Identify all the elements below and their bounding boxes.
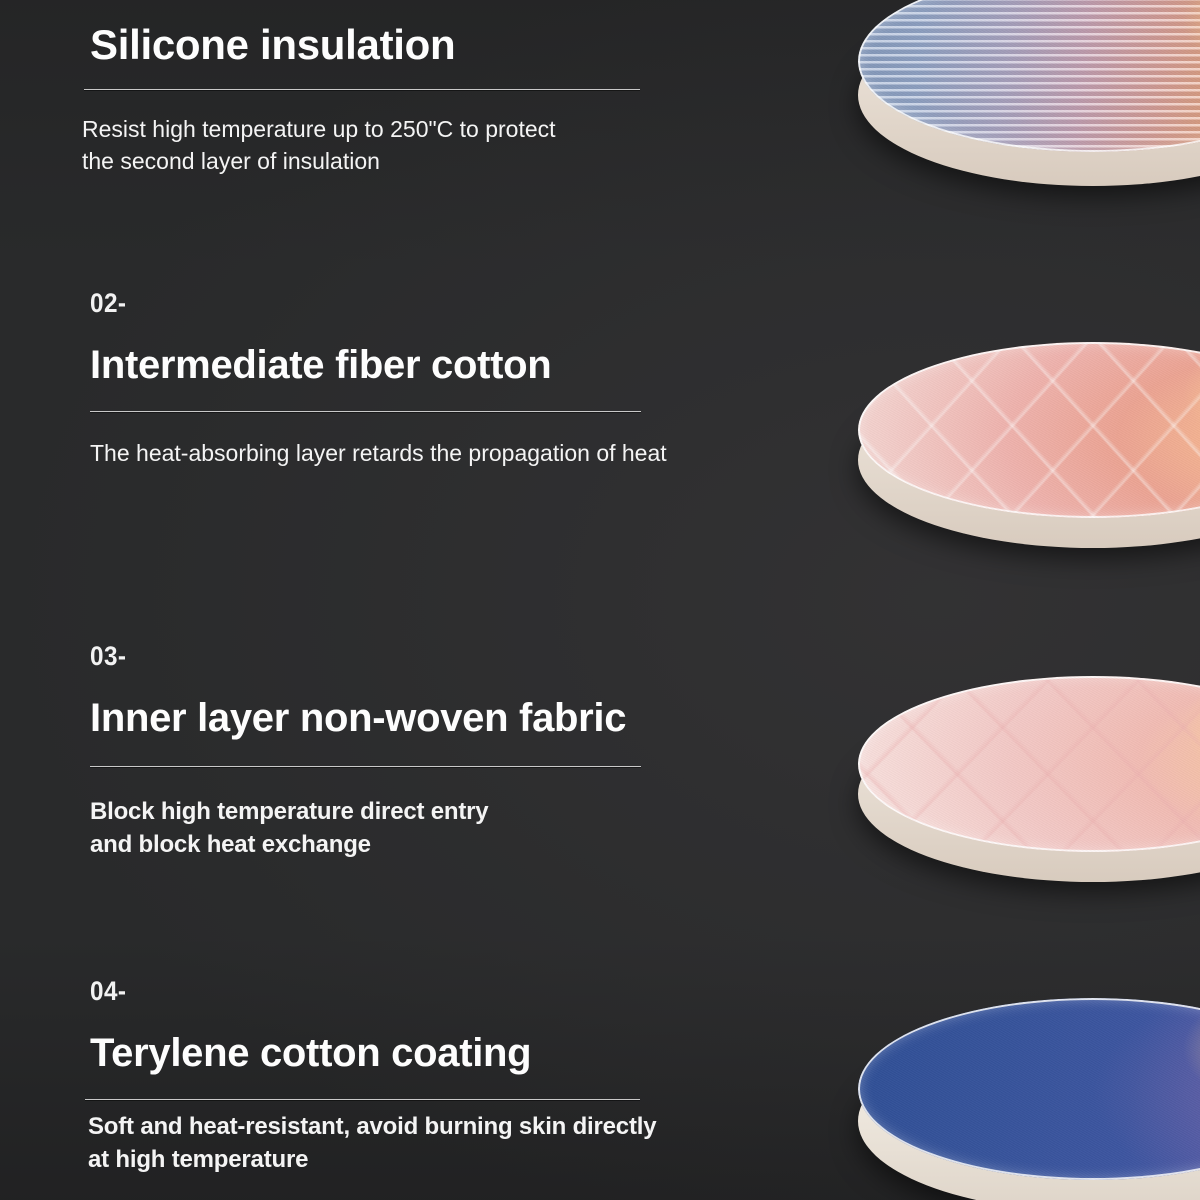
feature-number: 02-: [90, 290, 747, 317]
feature-divider: [84, 89, 640, 90]
feature-title: Inner layer non-woven fabric: [90, 696, 820, 740]
disc-heat-glow: [1158, 342, 1200, 462]
feature-number: 04-: [90, 978, 747, 1005]
terylene-layer-disc: [858, 1030, 1200, 1200]
feature-block-fiber-cotton: 02- Intermediate fiber cotton The heat-a…: [0, 290, 820, 470]
feature-number: 03-: [90, 643, 747, 670]
feature-title: Intermediate fiber cotton: [90, 343, 820, 387]
disc-heat-glow: [1158, 0, 1200, 90]
disc-heat-glow: [1158, 998, 1200, 1118]
product-layers-infographic: Silicone insulation Resist high temperat…: [0, 0, 1200, 1200]
feature-text-column: Silicone insulation Resist high temperat…: [0, 0, 850, 1200]
disc-heat-glow: [1158, 676, 1200, 796]
feature-title: Terylene cotton coating: [90, 1031, 820, 1075]
feature-block-non-woven: 03- Inner layer non-woven fabric Block h…: [0, 643, 820, 861]
feature-block-terylene: 04- Terylene cotton coating Soft and hea…: [0, 978, 820, 1176]
non-woven-layer-disc: [858, 706, 1200, 882]
silicone-layer-disc: [858, 4, 1200, 186]
feature-block-silicone: Silicone insulation Resist high temperat…: [0, 22, 820, 178]
feature-title: Silicone insulation: [90, 22, 820, 68]
feature-divider: [85, 1099, 640, 1100]
feature-body: Resist high temperature up to 250"C to p…: [82, 114, 820, 177]
feature-body: Soft and heat-resistant, avoid burning s…: [88, 1110, 820, 1176]
feature-divider: [90, 766, 641, 767]
feature-body: The heat-absorbing layer retards the pro…: [90, 438, 820, 470]
fiber-cotton-layer-disc: [858, 372, 1200, 548]
feature-divider: [90, 411, 641, 412]
feature-body: Block high temperature direct entry and …: [90, 795, 820, 861]
